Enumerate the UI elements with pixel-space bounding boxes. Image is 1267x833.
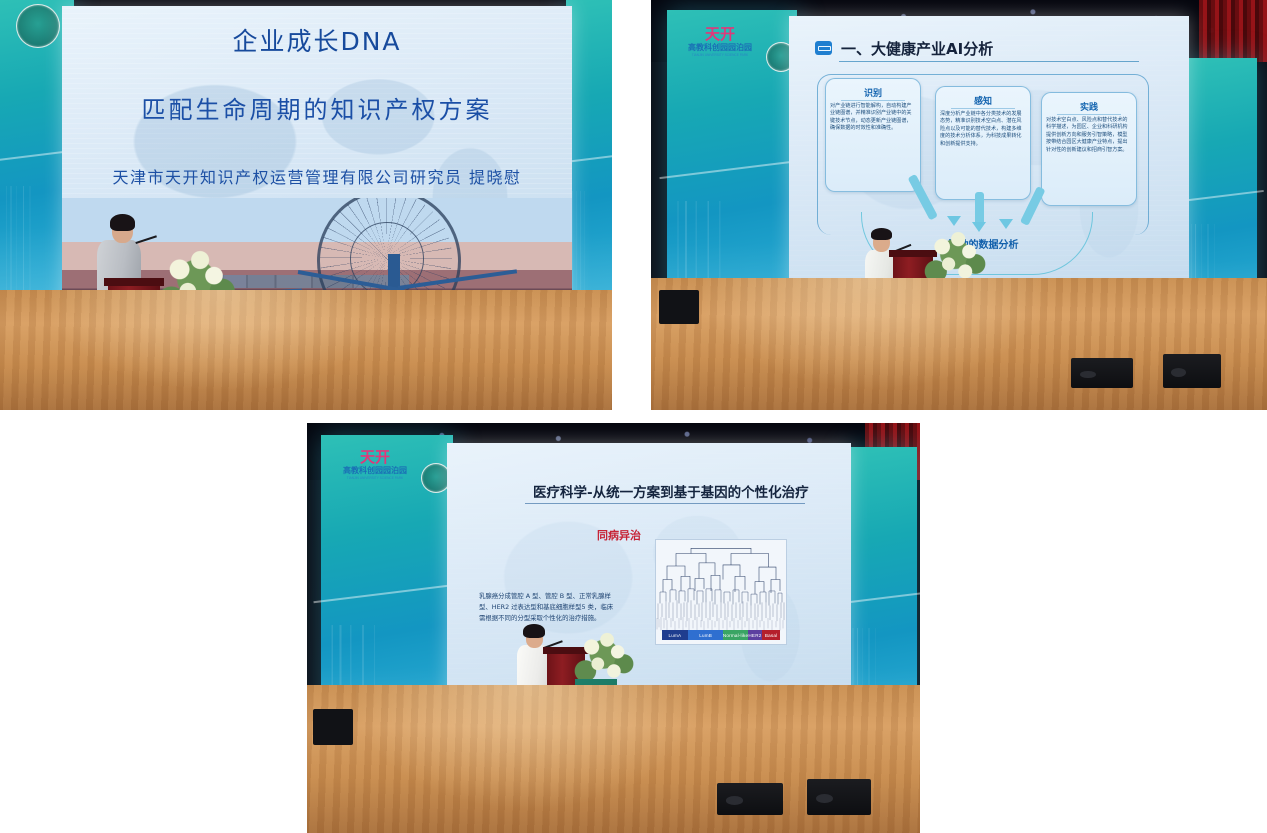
slide3-highlight: 同病异治 bbox=[597, 527, 641, 543]
card-practice-title: 实践 bbox=[1057, 100, 1121, 115]
card-perceive-body: 深度分析产业链中各分类技术的发展态势，精准识别技术空白点、潜在风险点以及可能的替… bbox=[936, 109, 1030, 148]
stage-floor bbox=[0, 290, 612, 410]
card-practice: 实践 对技术空白点、风险点和替代技术的科学描述，为园区、企业和科研机构提供创新方… bbox=[1041, 92, 1137, 206]
card-identify-body: 对产业链进行智能解构，自动构建产业链图谱，并精准识别产业链中的关键技术节点，动态… bbox=[826, 101, 920, 133]
stage-monitor-left bbox=[717, 783, 783, 815]
photo-bottom-center: 天开 高教科创园园泊园 TIANJIN UNIVERSITY SCIENCE P… bbox=[307, 423, 920, 833]
dendrogram-figure: LumA LumB Normal-like HER2 Basal bbox=[655, 539, 787, 645]
side-speaker-box bbox=[313, 709, 353, 745]
slide1-subtitle: 匹配生命周期的知识产权方案 bbox=[62, 90, 572, 125]
card-perceive-title: 感知 bbox=[951, 94, 1015, 109]
card-perceive: 感知 深度分析产业链中各分类技术的发展态势，精准识别技术空白点、潜在风险点以及可… bbox=[935, 86, 1031, 200]
logo-brand-en: TIANJIN UNIVERSITY SCIENCE PARK bbox=[329, 476, 421, 481]
logo-brand: 天开 bbox=[675, 26, 765, 42]
slide1-presenter: 天津市天开知识产权运营管理有限公司研究员 提晓慰 bbox=[62, 164, 572, 188]
stage-monitor-right bbox=[1163, 354, 1221, 388]
legend-normal-like: Normal-like bbox=[723, 630, 747, 640]
card-identify-title: 识别 bbox=[841, 86, 905, 101]
speaker-hair bbox=[110, 214, 135, 231]
slide3-title: 医疗科学-从统一方案到基于基因的个性化治疗 bbox=[533, 481, 809, 501]
legend-her2: HER2 bbox=[748, 630, 763, 640]
dendrogram-legend: LumA LumB Normal-like HER2 Basal bbox=[662, 630, 780, 640]
slide1-title: 企业成长DNA bbox=[62, 22, 572, 58]
stage-monitor-right bbox=[807, 779, 871, 815]
logo-brand-sub: 高教科创园园泊园 bbox=[675, 42, 765, 53]
emblem-seal bbox=[16, 4, 60, 48]
logo-brand-en: TIANJIN UNIVERSITY SCIENCE PARK bbox=[675, 53, 765, 58]
slide3-body: 乳腺癌分成管腔 A 型、管腔 B 型、正常乳腺样型、HER2 过表达型和基底细胞… bbox=[479, 591, 615, 625]
stage-monitor-left bbox=[1071, 358, 1133, 388]
slide2-title: 一、大健康产业AI分析 bbox=[841, 38, 993, 59]
speaker-hair bbox=[523, 624, 545, 638]
mail-tag-icon bbox=[815, 41, 832, 55]
card-identify: 识别 对产业链进行智能解构，自动构建产业链图谱，并精准识别产业链中的关键技术节点… bbox=[825, 78, 921, 192]
dendrogram-svg bbox=[656, 540, 786, 644]
photo-top-left: 企业成长DNA 匹配生命周期的知识产权方案 天津市天开知识产权运营管理有限公司研… bbox=[0, 0, 612, 410]
stage-floor bbox=[651, 278, 1267, 410]
logo-brand: 天开 bbox=[329, 449, 421, 465]
park-logo: 天开 高教科创园园泊园 TIANJIN UNIVERSITY SCIENCE P… bbox=[675, 26, 765, 58]
park-logo: 天开 高教科创园园泊园 TIANJIN UNIVERSITY SCIENCE P… bbox=[329, 449, 421, 481]
legend-luma: LumA bbox=[662, 630, 688, 640]
photo-top-right: 天开 高教科创园园泊园 TIANJIN UNIVERSITY SCIENCE P… bbox=[651, 0, 1267, 410]
legend-lumb: LumB bbox=[688, 630, 724, 640]
logo-brand-sub: 高教科创园园泊园 bbox=[329, 465, 421, 476]
led-wall-right bbox=[566, 0, 612, 330]
legend-basal: Basal bbox=[762, 630, 780, 640]
speaker-hair bbox=[871, 228, 892, 240]
side-speaker-box bbox=[659, 290, 699, 324]
card-practice-body: 对技术空白点、风险点和替代技术的科学描述，为园区、企业和科研机构提供创新方向和服… bbox=[1042, 115, 1136, 154]
